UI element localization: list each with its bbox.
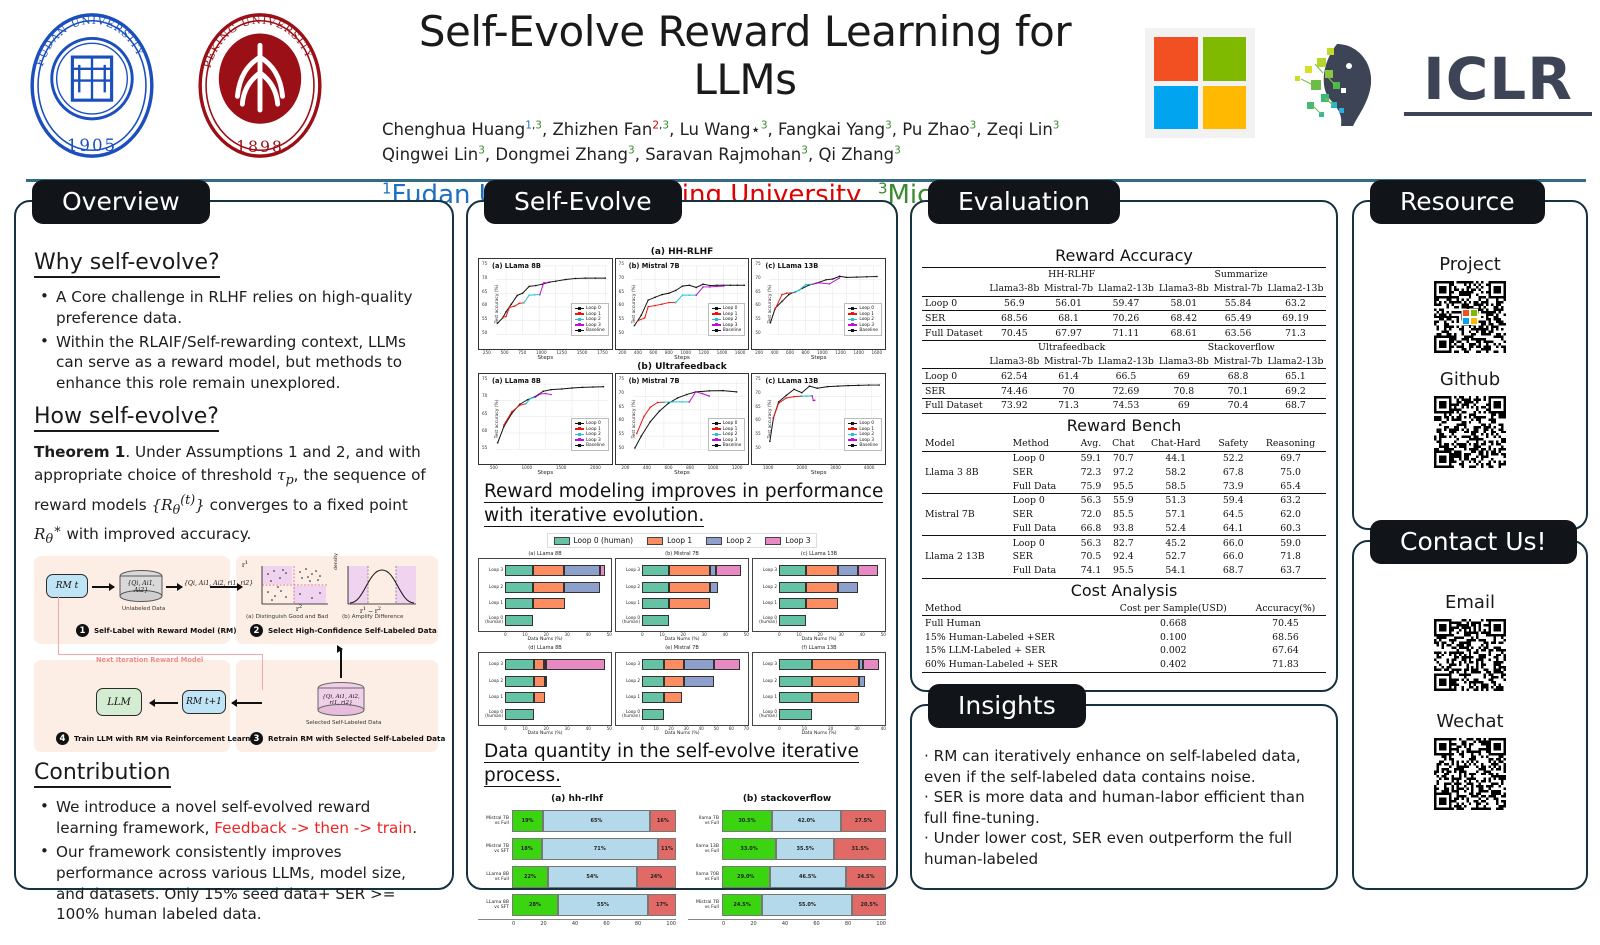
table-cell: 55.84 <box>1211 296 1265 311</box>
table-cell: 95.5 <box>1107 564 1141 578</box>
table-cell: 68.61 <box>1156 326 1211 341</box>
table-cell: 52.2 <box>1211 451 1255 465</box>
legend-item: Loop 2 <box>848 432 878 437</box>
y-axis-label: Test accuracy (%) <box>632 400 637 439</box>
bar-row-label: Loop 2 <box>479 585 505 589</box>
bar-stack: 18%71%11% <box>512 838 676 860</box>
axis-r1-label: r1 <box>242 560 248 569</box>
bar-segment: 29.0% <box>722 866 770 888</box>
framework-step1-caption: Self-Label with Reward Model (RM) <box>94 626 237 635</box>
legend-item: Loop 0 <box>712 306 742 311</box>
table-cell: 72.0 <box>1075 508 1106 522</box>
y-axis-label: Test accuracy (%) <box>768 285 773 324</box>
peking-university-seal: 1898 PEKING UNIVERSITY <box>186 8 334 163</box>
bar-row: Loop 2 <box>616 581 746 594</box>
row-label: Full Human <box>922 616 1102 630</box>
bar-row: LLama 8Bvs SFT 28%55%17% <box>478 891 676 919</box>
bar-stack <box>642 615 746 626</box>
row-label-model: Mistral 7B <box>922 508 1010 522</box>
bar-stack <box>779 598 883 609</box>
bar-segment: 24.5% <box>722 894 762 916</box>
winrate-chart-group: (a) hh-rlhf Mistral 7Bvs Full 19%65%16% … <box>478 794 886 927</box>
legend-item: Loop 3 <box>575 323 605 328</box>
row-label-method: Full Data <box>1010 564 1076 578</box>
legend-item: Loop 1 <box>848 427 878 432</box>
column-header: Llama2-13b <box>1265 355 1326 369</box>
table-cell: 70.7 <box>1107 451 1141 465</box>
row-label-model: Llama 2 13B <box>922 550 1010 564</box>
column-header: Avg. <box>1075 437 1106 451</box>
subfig-a-caption: (a) Distinguish Good and Bad <box>246 614 328 620</box>
y-axis-ticks: 7570656055 <box>482 376 487 450</box>
bar-segment: 71% <box>542 838 658 860</box>
resource-label-project: Project <box>1364 254 1576 275</box>
panel-title-insights: Insights <box>928 684 1086 728</box>
bar-segment: 24% <box>637 866 676 888</box>
bar-stack: 19%65%16% <box>512 810 676 832</box>
arrow-tuple-to-select <box>210 586 242 588</box>
legend-item: Loop 3 <box>765 536 810 545</box>
bar-row: Loop 0(human) <box>753 614 883 627</box>
iclr-wordmark: ICLR <box>1404 50 1592 116</box>
table-cell: 69 <box>1156 399 1211 414</box>
table-cell: 68.8 <box>1211 369 1265 384</box>
stacked-bar-panel: (f) LLama 13B Loop 3 Loop 2 Loop 1 Loop … <box>752 645 886 736</box>
arrow-data-to-tuple <box>166 586 182 588</box>
bar-row: llama 13Bvs Full 33.0%35.5%31.5% <box>688 835 886 863</box>
bar-plot-area: Loop 3 Loop 2 Loop 1 Loop 0(human) <box>615 558 749 632</box>
table-row: Full Data66.893.852.464.160.3 <box>922 522 1326 536</box>
bar-row-label: LLama 8Bvs Full <box>478 872 512 882</box>
y-axis-ticks: 757065605550 <box>619 376 624 450</box>
panel-title-overview: Overview <box>32 180 210 224</box>
panel-self-evolve: Self-Evolve (a) HH-RLHF (a) LLama 8B Tes… <box>466 200 898 890</box>
poster-header: 1905 FUDAN UNIVERSITY 1898 PEKING UNIVER… <box>0 0 1600 178</box>
bar-row: Loop 3 <box>479 658 609 671</box>
arrow-data-to-rm <box>232 702 262 704</box>
column-header <box>922 355 987 369</box>
winrate-panel: (b) stackoverflow llama 7Bvs Full 30.5%4… <box>688 794 886 927</box>
loop-arrow-vertical <box>58 596 59 654</box>
table-cell: 56.3 <box>1075 493 1106 507</box>
project-qr-code[interactable] <box>1434 281 1506 353</box>
table-cell: 70.8 <box>1156 384 1211 399</box>
bar-plot-area: Mistral 7Bvs Full 19%65%16% Mistral 7Bvs… <box>478 807 676 919</box>
x-axis-ticks: 020406080100 <box>688 919 886 927</box>
bar-row-label: Loop 0(human) <box>479 616 505 625</box>
subplot-title: (c) LLama 13B <box>752 551 886 557</box>
loop-label: Next Iteration Reward Model <box>96 656 203 664</box>
y-axis-label: Test accuracy (%) <box>495 285 500 324</box>
x-axis-label: Steps <box>615 355 750 361</box>
bar-segment: 28% <box>512 894 558 916</box>
table-cell: 70.26 <box>1095 311 1156 326</box>
table-cell: 74.53 <box>1095 399 1156 414</box>
bar-stack <box>642 709 746 720</box>
author-2: Lu Wang⋆3 <box>680 120 768 139</box>
author-list: Chenghua Huang1,3, Zhizhen Fan2,3, Lu Wa… <box>360 117 1120 168</box>
table-cell: 63.2 <box>1255 493 1326 507</box>
panel-overview: Overview Why self-evolve? A Core challen… <box>14 200 454 890</box>
x-axis-label: Steps <box>478 355 613 361</box>
author-8: Saravan Rajmohan3 <box>645 145 808 164</box>
bar-segment: 55.0% <box>762 894 852 916</box>
table-row: 15% LLM-Labeled + SER 0.002 67.64 <box>922 644 1326 658</box>
sponsor-logos: ICLR <box>1145 28 1592 138</box>
row-label-method: SER <box>1010 550 1076 564</box>
bar-row: llama 7Bvs Full 30.5%42.0%27.5% <box>688 807 886 835</box>
column-header: Llama3-8b <box>987 355 1042 369</box>
subplot-tag: (a) LLama 8B <box>492 377 541 385</box>
legend-item: Loop 0 <box>712 421 742 426</box>
bar-stack <box>779 676 883 687</box>
bar-row: Loop 1 <box>616 597 746 610</box>
bar-row-label: Loop 3 <box>616 568 642 572</box>
bar-segment: 55% <box>558 894 648 916</box>
bar-row-label: Loop 3 <box>753 662 779 666</box>
bar-stack <box>779 565 883 576</box>
bar-row: Mistral 7Bvs Full 19%65%16% <box>478 807 676 835</box>
row-label-method: Loop 0 <box>1010 451 1076 465</box>
table-header-row: Llama3-8bMistral-7bLlama2-13bLlama3-8bMi… <box>922 282 1326 296</box>
x-axis-label: Data Nums (%) <box>478 637 612 642</box>
legend-item: Loop 0 <box>848 306 878 311</box>
column-header: Safety <box>1211 437 1255 451</box>
bar-row-label: Loop 3 <box>616 662 642 666</box>
row-label: Full Dataset <box>922 326 987 341</box>
bar-plot-area: Loop 3 Loop 2 Loop 1 Loop 0(human) <box>478 652 612 726</box>
table-cell: 92.4 <box>1107 550 1141 564</box>
table-cell: 74.46 <box>987 384 1042 399</box>
bar-segment: 17% <box>648 894 676 916</box>
table-group-header-row: HH-RLHF Summarize <box>922 268 1326 282</box>
email-qr-code[interactable] <box>1364 619 1576 691</box>
table-cell: 75.0 <box>1255 465 1326 479</box>
author-3: Fangkai Yang3 <box>778 120 892 139</box>
x-axis-label: Data Nums (%) <box>478 731 612 736</box>
bar-row: Loop 2 <box>616 675 746 688</box>
table-cell: 70.4 <box>1211 399 1265 414</box>
subfig-b-caption: (b) Amplify Difference <box>342 614 403 620</box>
unlabeled-tuple-label: {Qi, Ai1, Ai2} <box>122 580 160 594</box>
stacked-bar-panel: (e) Mistral 7B Loop 3 Loop 2 Loop 1 Loop… <box>615 645 749 736</box>
table-cell: 68.42 <box>1156 311 1211 326</box>
column-header: Method <box>1010 437 1076 451</box>
subplot-title: (f) LLama 13B <box>752 645 886 651</box>
legend-item: Baseline <box>712 328 742 333</box>
panel-insights: Insights · RM can iteratively enhance on… <box>910 704 1338 890</box>
stacked-bar-panel: (b) Mistral 7B Loop 3 Loop 2 Loop 1 Loop… <box>615 551 749 642</box>
legend-item: Loop 1 <box>712 427 742 432</box>
insights-body: · RM can iteratively enhance on self-lab… <box>912 706 1336 875</box>
university-logos: 1905 FUDAN UNIVERSITY 1898 PEKING UNIVER… <box>18 8 334 163</box>
column-header: Mistral-7b <box>1211 282 1265 296</box>
axis-r2-label: r2 <box>296 604 302 613</box>
bar-segment: 11% <box>658 838 676 860</box>
subplot-title: (d) LLama 8B <box>478 645 612 651</box>
bar-row-label: Loop 2 <box>479 679 505 683</box>
bar-plot-area: Loop 3 Loop 2 Loop 1 Loop 0(human) <box>615 652 749 726</box>
group-header: Summarize <box>1156 268 1326 282</box>
panel-resource: Resource Project Github <box>1352 200 1588 530</box>
legend-item: Loop 0 (human) <box>554 536 634 545</box>
bar-row-label: Loop 2 <box>616 679 642 683</box>
line-chart-panel: (a) LLama 8B Test accuracy (%) 757065605… <box>478 373 613 476</box>
bar-segment: 31.5% <box>834 838 886 860</box>
y-axis-ticks: 757065605550 <box>755 261 760 335</box>
caption-2-wrap: Data quantity in the self-evolve iterati… <box>484 740 886 787</box>
bar-stack <box>642 582 746 593</box>
x-axis-label: Data Nums (%) <box>752 637 886 642</box>
bar-row-label: Loop 0(human) <box>753 710 779 719</box>
table-cell: 0.100 <box>1102 630 1245 644</box>
column-header: Llama2-13b <box>1095 282 1156 296</box>
table-cell: 60.3 <box>1255 522 1326 536</box>
table-cell: 71.8 <box>1255 550 1326 564</box>
list-item: Within the RLAIF/Self-rewarding context,… <box>34 332 436 394</box>
bar-stack <box>505 598 609 609</box>
column-header: Chat <box>1107 437 1141 451</box>
table-group-header-row: Ultrafeedback Stackoverflow <box>922 340 1326 354</box>
legend-item: Loop 2 <box>712 432 742 437</box>
table-cell: 59.4 <box>1211 493 1255 507</box>
line-chart-panel: (a) LLama 8B Test accuracy (%) 757065605… <box>478 258 613 361</box>
resource-label-github: Github <box>1364 369 1576 390</box>
scatter-subfigure <box>250 564 330 608</box>
legend-item: Loop 1 <box>848 312 878 317</box>
bar-row-label: Loop 1 <box>616 601 642 605</box>
bar-row-label: Loop 0(human) <box>753 616 779 625</box>
table-row: Llama 3 8BSER72.397.258.267.875.0 <box>922 465 1326 479</box>
bar-segment: 24.5% <box>846 866 886 888</box>
bar-segment: 65% <box>543 810 650 832</box>
table-cell: 82.7 <box>1107 536 1141 550</box>
row-label: SER <box>922 384 987 399</box>
legend-item: Loop 3 <box>575 438 605 443</box>
table-cell: 66.8 <box>1075 522 1106 536</box>
chart-legend: Loop 0Loop 1Loop 2Loop 3Baseline <box>571 303 609 336</box>
table-cell: 68.7 <box>1265 399 1326 414</box>
row-label: 60% Human-Labeled + SER <box>922 658 1102 672</box>
line-chart-panel: (b) Mistral 7B Test accuracy (%) 7570656… <box>615 258 750 361</box>
line-chart-group-hhrlhf: (a) LLama 8B Test accuracy (%) 757065605… <box>478 258 886 361</box>
table-cell: 58.2 <box>1140 465 1211 479</box>
table-cell: 71.3 <box>1042 399 1096 414</box>
insight-item: · RM can iteratively enhance on self-lab… <box>924 746 1324 787</box>
chart-legend: Loop 0Loop 1Loop 2Loop 3Baseline <box>571 418 609 451</box>
table-cell: 61.4 <box>1042 369 1096 384</box>
table-cell: 68.1 <box>1042 311 1096 326</box>
legend-item: Loop 2 <box>848 317 878 322</box>
bar-stack <box>505 676 609 687</box>
stacked-bar-panel: (c) LLama 13B Loop 3 Loop 2 Loop 1 Loop … <box>752 551 886 642</box>
figure-caption-2: Data quantity in the self-evolve iterati… <box>484 741 859 787</box>
legend-item: Loop 1 <box>575 427 605 432</box>
column-header: Llama3-8b <box>987 282 1042 296</box>
panel-title-contact: Contact Us! <box>1370 520 1577 564</box>
table-cell: 67.8 <box>1211 465 1255 479</box>
x-axis-ticks: 020406080100 <box>478 919 676 927</box>
subplot-tag: (c) LLama 13B <box>765 262 818 270</box>
poster-board: Overview Why self-evolve? A Core challen… <box>0 192 1600 898</box>
bar-segment: 46.5% <box>770 866 846 888</box>
table-cell: 73.92 <box>987 399 1042 414</box>
table-cell: 64.5 <box>1211 508 1255 522</box>
svg-text:FUDAN UNIVERSITY: FUDAN UNIVERSITY <box>34 14 146 67</box>
panel-evaluation: Evaluation Reward Accuracy HH-RLHF Summa… <box>910 200 1338 692</box>
table-row: Loop 056.355.951.359.463.2 <box>922 493 1326 507</box>
microsoft-glyph-icon <box>1462 309 1478 325</box>
table-cell: 70.5 <box>1075 550 1106 564</box>
table-cell: 59.47 <box>1095 296 1156 311</box>
x-axis-label: Data Nums (%) <box>752 731 886 736</box>
table-row: 60% Human-Labeled + SER 0.402 71.83 <box>922 658 1326 672</box>
table-row: Full Human 0.668 70.45 <box>922 616 1326 630</box>
table-row: SER68.5668.170.2668.4265.4969.19 <box>922 311 1326 326</box>
row-label-method: Loop 0 <box>1010 493 1076 507</box>
bar-row: Loop 0(human) <box>753 708 883 721</box>
bar-stack <box>642 659 746 670</box>
bar-segment: 16% <box>650 810 676 832</box>
bar-stack: 30.5%42.0%27.5% <box>722 810 886 832</box>
author-5: Zeqi Lin3 <box>987 120 1060 139</box>
bar-row: Mistral 7Bvs SFT 18%71%11% <box>478 835 676 863</box>
table-row: Full Data74.195.554.168.763.7 <box>922 564 1326 578</box>
table-cell: 54.1 <box>1140 564 1211 578</box>
table-cell: 71.3 <box>1265 326 1326 341</box>
row-label-method: SER <box>1010 465 1076 479</box>
contribution-bullet-list: We introduce a novel self-evolved reward… <box>34 797 436 925</box>
table-title-cost-analysis: Cost Analysis <box>922 581 1326 600</box>
group-header: HH-RLHF <box>987 268 1157 282</box>
column-header: Llama3-8b <box>1156 282 1211 296</box>
column-header: Chat-Hard <box>1140 437 1211 451</box>
table-cell: 62.0 <box>1255 508 1326 522</box>
bar-row-label: Mistral 7Bvs SFT <box>478 844 512 854</box>
bar-row: Loop 1 <box>479 597 609 610</box>
row-label-method: Loop 0 <box>1010 536 1076 550</box>
table-header-row: Llama3-8bMistral-7bLlama2-13bLlama3-8bMi… <box>922 355 1326 369</box>
table-cell: 85.5 <box>1107 508 1141 522</box>
subplot-title: (b) stackoverflow <box>688 794 886 804</box>
bar-row: LLama 8Bvs Full 22%54%24% <box>478 863 676 891</box>
list-item: Our framework consistently improves perf… <box>34 842 436 925</box>
unlabeled-data-caption: Unlabeled Data <box>122 606 160 612</box>
legend-item: Loop 1 <box>647 536 692 545</box>
bar-stack <box>642 565 746 576</box>
arrow-rm-to-llm <box>150 702 178 704</box>
contribution-0-post: . <box>412 819 417 837</box>
bar-plot-area: Loop 3 Loop 2 Loop 1 Loop 0(human) <box>478 558 612 632</box>
bar-row: Loop 1 <box>753 597 883 610</box>
table-cell: 45.2 <box>1140 536 1211 550</box>
chart-legend: Loop 0Loop 1Loop 2Loop 3Baseline <box>844 303 882 336</box>
bar-plot-area: llama 7Bvs Full 30.5%42.0%27.5% llama 13… <box>688 807 886 919</box>
legend-item: Baseline <box>575 328 605 333</box>
bar-segment: 30.5% <box>722 810 772 832</box>
stacked-bar-legend: Loop 0 (human)Loop 1Loop 2Loop 3 <box>547 533 818 548</box>
bar-stack: 33.0%35.5%31.5% <box>722 838 886 860</box>
bar-stack <box>505 582 609 593</box>
column-header <box>922 282 987 296</box>
github-qr-code[interactable] <box>1364 396 1576 468</box>
table-cell: 52.4 <box>1140 522 1211 536</box>
author-7: Dongmei Zhang3 <box>495 145 634 164</box>
table-cell: 69.19 <box>1265 311 1326 326</box>
bar-stack <box>779 659 883 670</box>
group-header: Ultrafeedback <box>987 340 1157 354</box>
bar-segment: 35.5% <box>776 838 834 860</box>
column-header: Llama2-13b <box>1095 355 1156 369</box>
table-reward-accuracy: HH-RLHF SummarizeLlama3-8bMistral-7bLlam… <box>922 267 1326 414</box>
bar-row: llama 70Bvs Full 29.0%46.5%24.5% <box>688 863 886 891</box>
table-cell: 65.49 <box>1211 311 1265 326</box>
column-header: Reasoning <box>1255 437 1326 451</box>
author-4: Pu Zhao3 <box>902 120 976 139</box>
theorem-label: Theorem 1 <box>34 443 125 461</box>
winrate-panel: (a) hh-rlhf Mistral 7Bvs Full 19%65%16% … <box>478 794 676 927</box>
llm-box: LLM <box>96 688 142 716</box>
svg-text:1905: 1905 <box>67 136 117 155</box>
bar-stack <box>779 615 883 626</box>
row-label: Full Dataset <box>922 399 987 414</box>
bar-row: Loop 2 <box>479 581 609 594</box>
row-label-method: Full Data <box>1010 522 1076 536</box>
bar-row-label: Loop 0(human) <box>616 710 642 719</box>
density-subfigure <box>338 564 418 608</box>
table-cell: 56.3 <box>1075 536 1106 550</box>
bar-plot-area: Loop 3 Loop 2 Loop 1 Loop 0(human) <box>752 558 886 632</box>
table-row: Full Data75.995.558.573.965.4 <box>922 479 1326 493</box>
bar-segment: 18% <box>512 838 542 860</box>
insight-item: · Under lower cost, SER even outperform … <box>924 828 1324 869</box>
loop-arrow-down <box>262 654 263 690</box>
panel-title-self-evolve: Self-Evolve <box>484 180 682 224</box>
column-header: Llama2-13b <box>1265 282 1326 296</box>
microsoft-logo <box>1145 28 1255 138</box>
bar-row: Loop 1 <box>616 691 746 704</box>
table-cell: 70.45 <box>1245 616 1326 630</box>
theorem-part-c: converges to a fixed point <box>205 496 408 514</box>
stacked-bar-group-1: (a) LLama 8B Loop 3 Loop 2 Loop 1 Loop 0… <box>478 551 886 642</box>
bar-row-label: Loop 1 <box>753 695 779 699</box>
loop-arrow-horizontal <box>58 654 262 655</box>
caption-1-wrap: Reward modeling improves in performance … <box>484 480 886 527</box>
legend-item: Loop 2 <box>575 317 605 322</box>
contribution-0-emphasis: Feedback -> then -> train <box>214 819 412 837</box>
table-cell: 59.0 <box>1255 536 1326 550</box>
table-cell: 70.1 <box>1211 384 1265 399</box>
y-axis-ticks: 757065605550 <box>482 261 487 335</box>
table-cell: 71.83 <box>1245 658 1326 672</box>
wechat-qr-code[interactable] <box>1364 738 1576 810</box>
iclr-brain-icon <box>1277 36 1382 131</box>
table-row: Llama 2 13BSER70.592.452.766.071.8 <box>922 550 1326 564</box>
why-bullet-list: A Core challenge in RLHF relies on high-… <box>34 287 436 394</box>
x-axis-label: Steps <box>751 355 886 361</box>
legend-item: Loop 1 <box>712 312 742 317</box>
legend-item: Loop 1 <box>575 312 605 317</box>
bar-row-label: Loop 0(human) <box>616 616 642 625</box>
table-cell: 63.7 <box>1255 564 1326 578</box>
table-cell: 68.7 <box>1211 564 1255 578</box>
arrow-rm-to-data <box>92 586 114 588</box>
bar-row: Loop 0(human) <box>479 614 609 627</box>
legend-item: Loop 0 <box>575 421 605 426</box>
panel-title-resource: Resource <box>1370 180 1545 224</box>
bar-stack <box>642 676 746 687</box>
bar-row: Loop 1 <box>753 691 883 704</box>
